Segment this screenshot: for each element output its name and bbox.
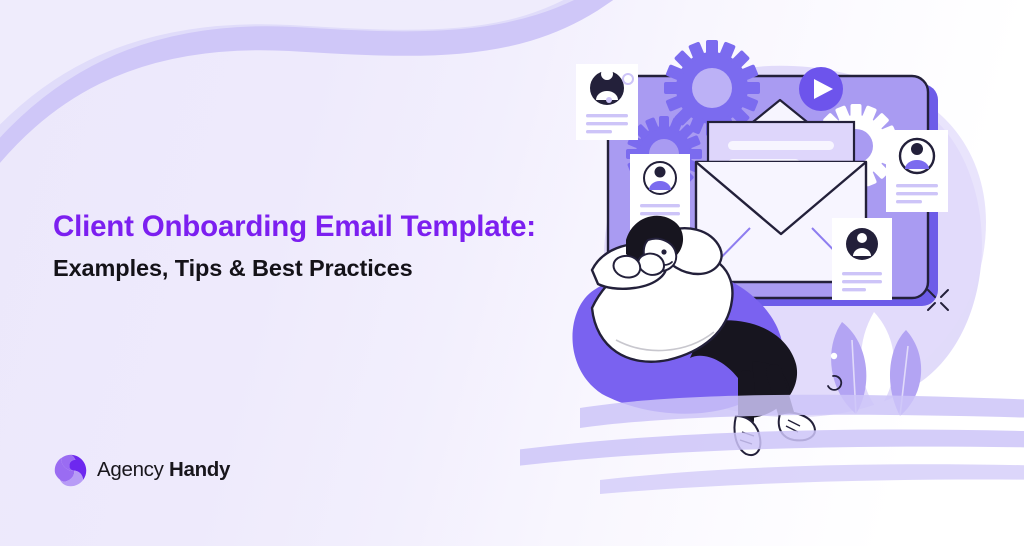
user-card-right bbox=[886, 130, 948, 212]
agency-handy-swirl-mark-icon bbox=[53, 453, 88, 488]
brand-wordmark: Agency Handy bbox=[97, 460, 230, 481]
hero-copy: Client Onboarding Email Template: Exampl… bbox=[53, 207, 573, 284]
brand-logo[interactable]: Agency Handy bbox=[53, 453, 230, 488]
shoe-right bbox=[779, 413, 815, 441]
brand-name-light: Agency bbox=[97, 458, 169, 481]
shoe-left bbox=[734, 416, 760, 455]
page-subtitle: Examples, Tips & Best Practices bbox=[53, 253, 573, 284]
avatar-icon bbox=[846, 228, 878, 260]
avatar-icon bbox=[900, 139, 934, 173]
email-onboarding-illustration bbox=[556, 22, 1024, 492]
hero-banner: Client Onboarding Email Template: Exampl… bbox=[0, 0, 1024, 546]
brand-name-bold: Handy bbox=[169, 458, 230, 481]
user-card-bottom bbox=[832, 218, 892, 300]
play-button-icon[interactable] bbox=[799, 67, 843, 111]
avatar-icon bbox=[644, 162, 676, 194]
page-title: Client Onboarding Email Template: bbox=[53, 207, 573, 247]
